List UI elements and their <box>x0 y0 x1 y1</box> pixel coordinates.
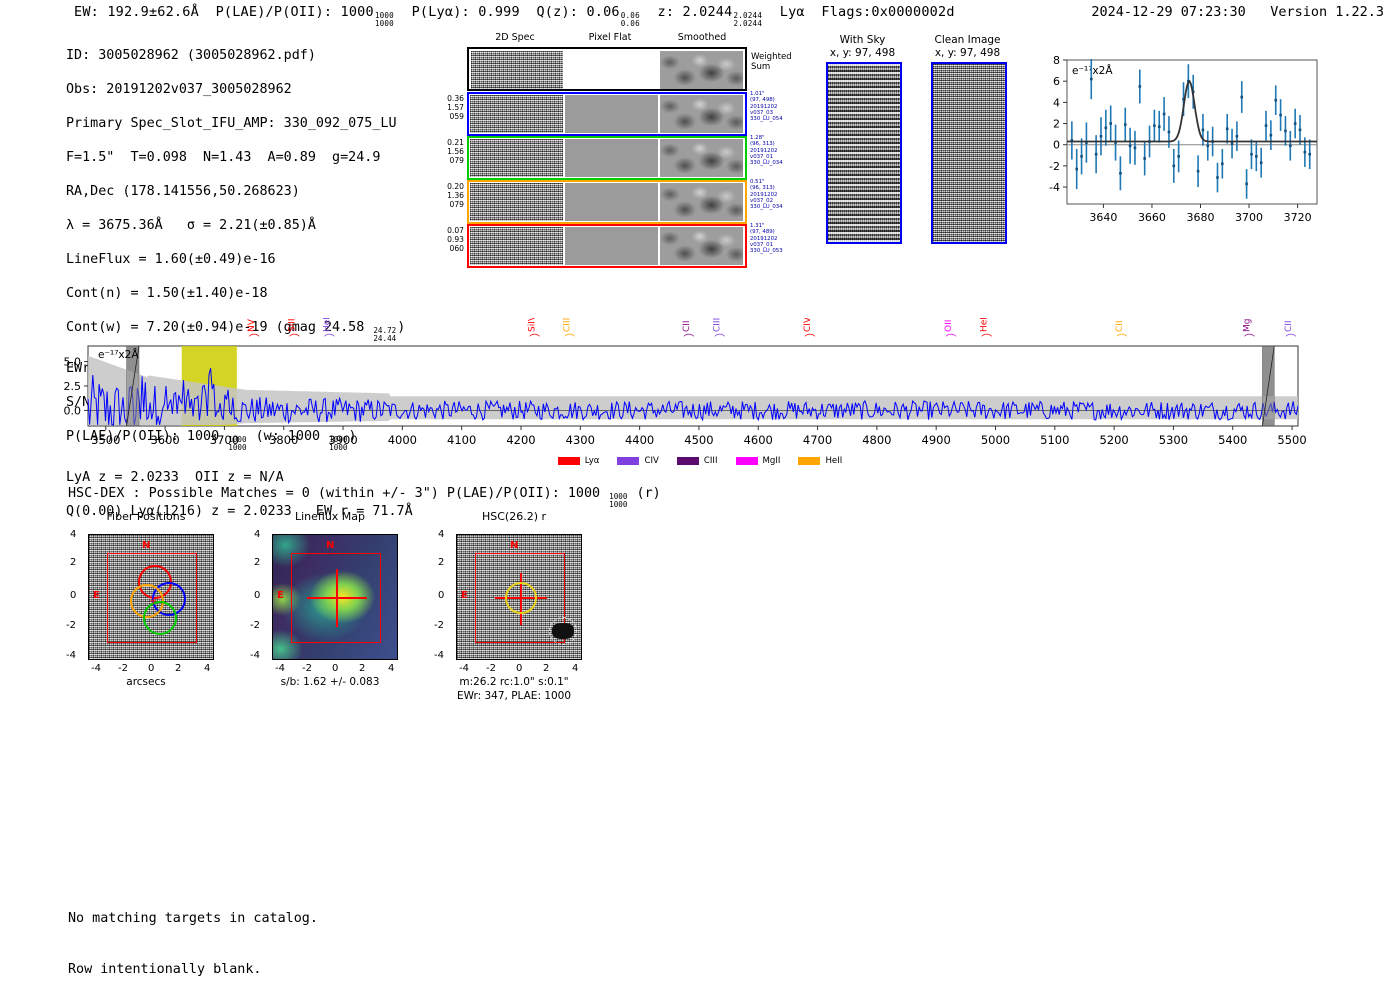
info-line-seeing: F=1.5" T=0.098 N=1.43 A=0.89 g=24.9 <box>66 149 413 166</box>
svg-text:e⁻¹⁷x2Å: e⁻¹⁷x2Å <box>1072 64 1113 77</box>
info-line-z: LyA z = 2.0233 OII z = N/A <box>66 469 413 486</box>
panel-caption-2: EWr: 347, PLAE: 1000 <box>424 690 604 702</box>
y-tick: -4 <box>66 650 76 661</box>
emission-line-label: SiII <box>287 318 297 332</box>
svg-text:4400: 4400 <box>625 433 654 447</box>
legend-swatch <box>677 457 699 465</box>
y-tick: 2 <box>254 557 260 568</box>
svg-text:3660: 3660 <box>1138 211 1166 224</box>
panel-image <box>272 534 398 660</box>
panel-fiber-positions[interactable]: Fiber Positions + N E 4 2 0 -2 -4 -4 -2 … <box>56 510 236 710</box>
col-title-smoothed: Smoothed <box>657 32 747 43</box>
ew-label: EW: <box>74 4 99 20</box>
plae-label: P(LAE)/P(OII): <box>216 4 333 20</box>
emission-line-label: OII <box>944 320 954 332</box>
fiber-info: 330_LU_034 <box>750 160 810 166</box>
y-tick: 0 <box>70 590 76 601</box>
legend-item-ciii: CIII <box>677 456 718 466</box>
emission-line-label: CII <box>1284 320 1294 332</box>
fiber-metric: 059 <box>438 112 464 121</box>
report-version: Version 1.22.3 <box>1270 4 1384 20</box>
legend-item-mgii: MgII <box>736 456 781 466</box>
spec-2d-panel-group: 2D Spec Pixel Flat Smoothed Weighted Sum… <box>440 32 770 257</box>
svg-text:⌒: ⌒ <box>289 333 300 346</box>
z-range: 2.02442.0244 <box>733 12 762 27</box>
fiber-row-info-2: 1.28" (96, 313) 20191202 v037_01 330_LU_… <box>750 135 810 166</box>
fiber-info: 330_LU_034 <box>750 204 810 210</box>
svg-text:⌒: ⌒ <box>1285 333 1296 346</box>
cutout-subtitle: x, y: 97, 498 <box>820 47 905 59</box>
x-tick: -4 <box>275 663 285 674</box>
fiber-row-3[interactable] <box>467 180 747 224</box>
svg-text:⌒: ⌒ <box>946 333 957 346</box>
fiber-row-info-3: 0.51" (96, 313) 20191202 v037_02 330_LU_… <box>750 179 810 210</box>
line-name: Lyα <box>780 4 805 20</box>
svg-text:4100: 4100 <box>447 433 476 447</box>
aperture-circle <box>505 582 537 614</box>
y-tick: 4 <box>70 529 76 540</box>
compass-east: E <box>277 590 284 601</box>
fiber-info: 330_LU_053 <box>750 248 810 254</box>
svg-text:3640: 3640 <box>1089 211 1117 224</box>
svg-text:5400: 5400 <box>1218 433 1247 447</box>
panel-image: + <box>88 534 214 660</box>
fiber-row-metrics-1: 0.36 1.57 059 <box>438 94 464 122</box>
plae-value: 1000 <box>341 4 374 20</box>
svg-text:⌒: ⌒ <box>324 333 335 346</box>
fiber-metric: 1.56 <box>438 147 464 156</box>
full-spectrum-svg: e⁻¹⁷x2Å0.02.55.0350036003700380039004000… <box>40 318 1360 468</box>
col-title-2dspec: 2D Spec <box>470 32 560 43</box>
emission-line-label: SiIV <box>528 318 538 332</box>
y-tick: 2 <box>438 557 444 568</box>
col-title-pixelflat: Pixel Flat <box>565 32 655 43</box>
svg-text:⌒: ⌒ <box>1244 333 1255 346</box>
y-tick: -2 <box>250 620 260 631</box>
y-tick: 2 <box>70 557 76 568</box>
z-value: 2.0244 <box>683 4 733 20</box>
svg-text:3500: 3500 <box>91 433 120 447</box>
svg-text:-4: -4 <box>1049 181 1060 194</box>
weighted-sum-label: Weighted Sum <box>751 52 792 72</box>
panel-caption: m:26.2 rc:1.0" s:0.1" <box>424 676 604 688</box>
compass-north: N <box>326 540 334 551</box>
legend-item-heii: HeII <box>798 456 842 466</box>
svg-text:4800: 4800 <box>862 433 891 447</box>
svg-text:⌒: ⌒ <box>981 333 992 346</box>
emission-line-label: CIII <box>713 318 723 332</box>
legend-label: CIII <box>704 456 718 466</box>
svg-text:0.0: 0.0 <box>64 404 82 417</box>
fiber-pixelflat <box>565 183 658 221</box>
legend-label: Lyα <box>585 456 600 466</box>
x-tick: 2 <box>359 663 365 674</box>
emission-line-label: CIII <box>563 318 573 332</box>
x-tick: 0 <box>332 663 338 674</box>
fiber-row-2[interactable] <box>467 136 747 180</box>
svg-text:⌒: ⌒ <box>564 333 575 346</box>
cutout-with-sky[interactable]: With Sky x, y: 97, 498 <box>820 34 905 244</box>
y-tick: -4 <box>250 650 260 661</box>
svg-text:4300: 4300 <box>566 433 595 447</box>
fiber-smoothed <box>660 227 743 265</box>
svg-text:e⁻¹⁷x2Å: e⁻¹⁷x2Å <box>98 348 139 361</box>
panel-title: Fiber Positions <box>56 510 236 523</box>
weighted-sum-2dspec <box>471 51 563 89</box>
svg-text:3800: 3800 <box>269 433 298 447</box>
hscdex-plae-range: 10001000 <box>609 493 627 508</box>
svg-text:⌒: ⌒ <box>804 333 815 346</box>
line-fit-plot: 36403660368037003720-4-202468e⁻¹⁷x2Å <box>1035 48 1325 238</box>
fiber-row-info-4: 1.31" (97, 489) 20191202 v037_01 330_LU_… <box>750 223 810 254</box>
emission-line-label: MgII <box>1242 318 1252 332</box>
svg-text:5.0: 5.0 <box>64 356 82 369</box>
compass-east: E <box>93 590 100 601</box>
legend-swatch <box>617 457 639 465</box>
info-line-lambda: λ = 3675.36Å σ = 2.21(±0.85)Å <box>66 217 413 234</box>
y-tick: -4 <box>434 650 444 661</box>
svg-text:8: 8 <box>1053 54 1060 67</box>
full-spectrum-panel: e⁻¹⁷x2Å0.02.55.0350036003700380039004000… <box>40 318 1360 468</box>
x-tick: 4 <box>572 663 578 674</box>
svg-text:⌒: ⌒ <box>714 333 725 346</box>
panel-image <box>456 534 582 660</box>
svg-text:⌒: ⌒ <box>1116 333 1127 346</box>
flags-value: Flags:0x0000002d <box>821 4 954 20</box>
fiber-metric: 0.93 <box>438 235 464 244</box>
fiber-smoothed <box>660 95 743 133</box>
fiber-metric: 0.21 <box>438 138 464 147</box>
footer-line-1: No matching targets in catalog. <box>68 910 318 927</box>
panel-title: HSC(26.2) r <box>424 510 604 523</box>
weighted-sum-strip <box>467 47 747 91</box>
svg-text:3600: 3600 <box>150 433 179 447</box>
y-tick: 4 <box>254 529 260 540</box>
cutout-title: Clean Image <box>925 34 1010 46</box>
legend-item-lyα: Lyα <box>558 456 600 466</box>
svg-text:5200: 5200 <box>1099 433 1128 447</box>
legend-label: MgII <box>763 456 781 466</box>
svg-text:4500: 4500 <box>684 433 713 447</box>
header-summary-line: EW: 192.9±62.6Å P(LAE)/P(OII): 100010001… <box>74 4 955 28</box>
fiber-2dspec <box>470 183 563 221</box>
fiber-metric: 079 <box>438 156 464 165</box>
fiber-metric: 0.36 <box>438 94 464 103</box>
info-line-lineflux: LineFlux = 1.60(±0.49)e-16 <box>66 251 413 268</box>
footer-note: No matching targets in catalog. Row inte… <box>68 876 318 995</box>
panel-lineflux-map[interactable]: Lineflux Map N E 4 2 0 -2 -4 -4 -2 0 2 4… <box>240 510 420 720</box>
fiber-row-info-1: 1.01" (97, 498) 20191202 v037_03 330_LU_… <box>750 91 810 122</box>
qz-label: Q(z): <box>536 4 578 20</box>
svg-text:5100: 5100 <box>1040 433 1069 447</box>
svg-text:3680: 3680 <box>1186 211 1214 224</box>
fiber-info: 330_LU_054 <box>750 116 810 122</box>
svg-text:4: 4 <box>1053 96 1060 109</box>
panel-xlabel: arcsecs <box>56 676 236 688</box>
neighbor-circle <box>549 617 577 645</box>
cutout-image <box>931 62 1007 244</box>
svg-text:5000: 5000 <box>981 433 1010 447</box>
emission-line-label: HeII <box>980 318 990 332</box>
svg-text:4200: 4200 <box>506 433 535 447</box>
x-tick: 0 <box>148 663 154 674</box>
svg-text:⌒: ⌒ <box>683 333 694 346</box>
fiber-2dspec <box>470 227 563 265</box>
x-tick: 0 <box>516 663 522 674</box>
svg-text:3720: 3720 <box>1284 211 1312 224</box>
cutout-image <box>826 62 902 244</box>
fiber-metric: 1.57 <box>438 103 464 112</box>
fiber-smoothed <box>660 183 743 221</box>
legend-label: CIV <box>644 456 658 466</box>
fiber-2dspec <box>470 95 563 133</box>
x-tick: -4 <box>459 663 469 674</box>
y-tick: 0 <box>254 590 260 601</box>
fiber-row-metrics-3: 0.20 1.36 079 <box>438 182 464 210</box>
svg-text:4600: 4600 <box>744 433 773 447</box>
fiber-pixelflat <box>565 95 658 133</box>
fiber-row-metrics-2: 0.21 1.56 079 <box>438 138 464 166</box>
info-line-specslot: Primary Spec_Slot_IFU_AMP: 330_092_075_L… <box>66 115 413 132</box>
info-line-obs: Obs: 20191202v037_3005028962 <box>66 81 413 98</box>
svg-text:⌒: ⌒ <box>529 333 540 346</box>
fiber-smoothed <box>660 139 743 177</box>
svg-text:5300: 5300 <box>1159 433 1188 447</box>
info-line-contn: Cont(n) = 1.50(±1.40)e-18 <box>66 285 413 302</box>
svg-text:2: 2 <box>1053 118 1060 131</box>
plya-label: P(Lyα): <box>412 4 470 20</box>
qz-value: 0.06 <box>586 4 619 20</box>
weighted-sum-pixelflat <box>565 51 658 89</box>
fiber-metric: 079 <box>438 200 464 209</box>
emission-line-label: HeII <box>322 318 332 332</box>
emission-line-label: CII <box>1115 320 1125 332</box>
legend-swatch <box>558 457 580 465</box>
legend-label: HeII <box>825 456 842 466</box>
fiber-2dspec <box>470 139 563 177</box>
fiber-pixelflat <box>565 139 658 177</box>
svg-text:6: 6 <box>1053 75 1060 88</box>
y-tick: 0 <box>438 590 444 601</box>
svg-text:⌒: ⌒ <box>249 333 260 346</box>
fiber-row-4[interactable] <box>467 224 747 268</box>
hscdex-text: HSC-DEX : Possible Matches = 0 (within +… <box>68 486 608 501</box>
z-label: z: <box>658 4 675 20</box>
hscdex-suffix: (r) <box>628 486 660 501</box>
weighted-sum-smoothed <box>660 51 743 89</box>
report-timestamp: 2024-12-29 07:23:30 <box>1091 4 1245 20</box>
svg-text:4700: 4700 <box>803 433 832 447</box>
x-tick: -2 <box>302 663 312 674</box>
fiber-row-metrics-4: 0.07 0.93 060 <box>438 226 464 254</box>
hscdex-summary: HSC-DEX : Possible Matches = 0 (within +… <box>68 486 661 509</box>
line-fit-svg: 36403660368037003720-4-202468e⁻¹⁷x2Å <box>1035 48 1325 238</box>
fiber-metric: 0.20 <box>438 182 464 191</box>
crosshair-v <box>336 569 338 627</box>
header-meta: 2024-12-29 07:23:30 Version 1.22.3 <box>1091 4 1384 20</box>
y-tick: -2 <box>434 620 444 631</box>
x-tick: -2 <box>486 663 496 674</box>
svg-text:3700: 3700 <box>210 433 239 447</box>
panel-title: Lineflux Map <box>240 510 420 523</box>
svg-text:4900: 4900 <box>922 433 951 447</box>
emission-line-label: CII <box>682 320 692 332</box>
info-line-radec: RA,Dec (178.141556,50.268623) <box>66 183 413 200</box>
ew-value: 192.9±62.6Å <box>107 4 199 20</box>
center-marker: + <box>149 596 157 607</box>
emission-line-label: CIV <box>803 318 813 332</box>
fiber-pixelflat <box>565 227 658 265</box>
fiber-metric: 060 <box>438 244 464 253</box>
spectrum-legend: LyαCIVCIIIMgIIHeII <box>0 450 1400 469</box>
svg-text:3700: 3700 <box>1235 211 1263 224</box>
x-tick: 4 <box>388 663 394 674</box>
cutout-title: With Sky <box>820 34 905 46</box>
info-line-id: ID: 3005028962 (3005028962.pdf) <box>66 47 413 64</box>
qz-range: 0.060.06 <box>621 12 640 27</box>
legend-swatch <box>736 457 758 465</box>
panel-hsc-r[interactable]: HSC(26.2) r N E 4 2 0 -2 -4 -4 -2 0 2 4 … <box>424 510 604 730</box>
fiber-row-1[interactable] <box>467 92 747 136</box>
cutout-clean-image[interactable]: Clean Image x, y: 97, 498 <box>925 34 1010 244</box>
legend-swatch <box>798 457 820 465</box>
footer-line-2: Row intentionally blank. <box>68 961 318 978</box>
compass-north: N <box>142 540 150 551</box>
fiber-metric: 0.07 <box>438 226 464 235</box>
x-tick: -2 <box>118 663 128 674</box>
svg-text:5500: 5500 <box>1277 433 1306 447</box>
x-tick: 2 <box>543 663 549 674</box>
svg-text:3900: 3900 <box>328 433 357 447</box>
svg-text:0: 0 <box>1053 139 1060 152</box>
x-tick: 4 <box>204 663 210 674</box>
svg-text:2.5: 2.5 <box>64 380 82 393</box>
x-tick: 2 <box>175 663 181 674</box>
plya-value: 0.999 <box>478 4 520 20</box>
plae-range: 10001000 <box>375 12 394 27</box>
emission-line-label: NV <box>247 318 257 332</box>
compass-east: E <box>461 590 468 601</box>
svg-text:4000: 4000 <box>388 433 417 447</box>
legend-item-civ: CIV <box>617 456 658 466</box>
compass-north: N <box>510 540 518 551</box>
cutout-subtitle: x, y: 97, 498 <box>925 47 1010 59</box>
panel-caption: s/b: 1.62 +/- 0.083 <box>240 676 420 688</box>
y-tick: -2 <box>66 620 76 631</box>
y-tick: 4 <box>438 529 444 540</box>
x-tick: -4 <box>91 663 101 674</box>
svg-text:-2: -2 <box>1049 160 1060 173</box>
fiber-metric: 1.36 <box>438 191 464 200</box>
